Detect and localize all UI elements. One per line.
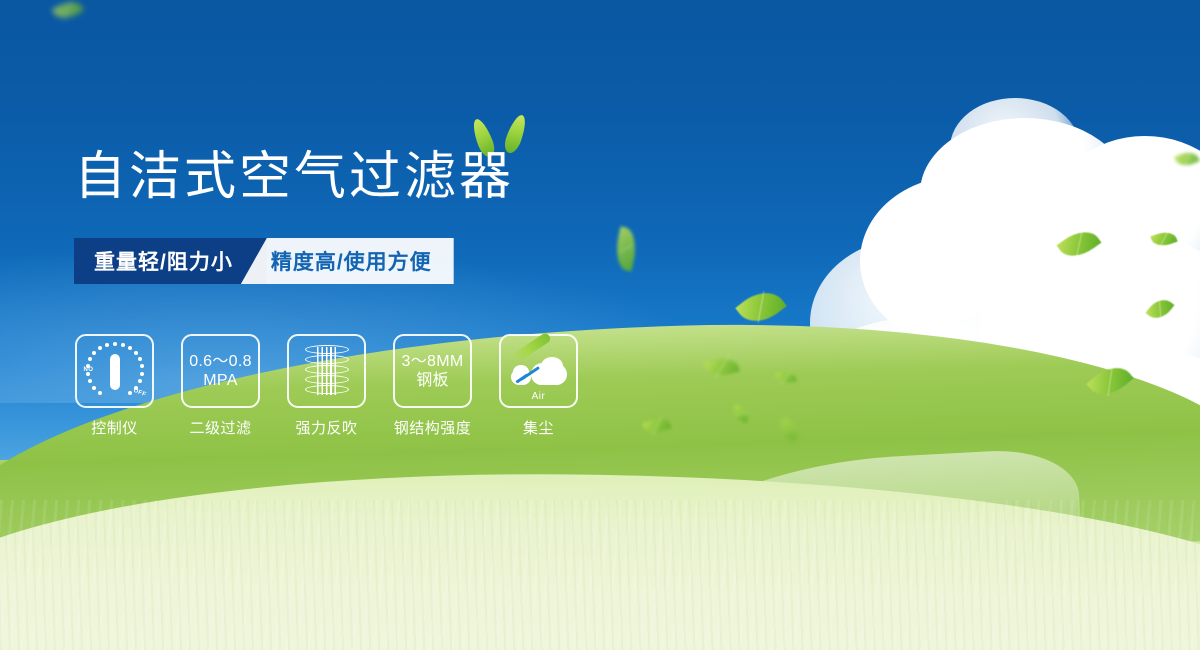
- feature-item-dust-collection[interactable]: Air 集尘: [498, 334, 579, 438]
- steel-thickness-line1: 3～8MM: [402, 352, 464, 371]
- cloud-air-icon: Air: [511, 349, 567, 393]
- tagline-secondary: 精度高/使用方便: [241, 238, 454, 284]
- dial-label-no: NO: [84, 367, 94, 373]
- leaf-vein: [781, 371, 792, 383]
- coil-bars: [317, 347, 337, 395]
- dial-needle: [110, 354, 120, 390]
- cloud-puff: [920, 118, 1130, 268]
- feature-box: 3～8MM 钢板: [393, 334, 472, 408]
- floating-leaf: [52, 0, 84, 24]
- control-dial-icon: NO OFF: [85, 342, 145, 400]
- leaf-vein: [1075, 230, 1082, 258]
- feature-box: [287, 334, 366, 408]
- dial-label-off: OFF: [133, 388, 147, 399]
- feature-label: 二级过滤: [189, 417, 251, 438]
- floating-leaf: [612, 226, 640, 271]
- feature-item-control-dial[interactable]: NO OFF 控制仪: [74, 334, 155, 438]
- leaf-vein: [619, 245, 633, 253]
- leaf-vein: [758, 291, 765, 323]
- grass-field: [0, 460, 1200, 650]
- tagline-bar: 重量轻/阻力小 精度高/使用方便: [74, 238, 454, 284]
- leaf-vein: [1159, 300, 1161, 318]
- feature-label: 钢结构强度: [394, 417, 472, 438]
- feature-box: NO OFF: [75, 334, 154, 408]
- feature-item-blowback[interactable]: 强力反吹: [286, 334, 367, 438]
- leaf-vein: [734, 412, 748, 416]
- pressure-value-line1: 0.6～0.8: [189, 352, 252, 371]
- tagline-primary: 重量轻/阻力小: [74, 238, 267, 284]
- pressure-value-line2: MPA: [203, 371, 237, 390]
- coil-blowback-icon: [305, 345, 349, 397]
- steel-thickness-line2: 钢板: [416, 371, 449, 390]
- leaf-vein: [1183, 151, 1191, 167]
- feature-box: 0.6～0.8 MPA: [181, 334, 260, 408]
- cloud-puff: [860, 176, 1060, 346]
- feature-label: 控制仪: [91, 417, 138, 438]
- cloud-puff: [950, 98, 1080, 198]
- feature-label: 集尘: [523, 417, 554, 438]
- leaf-vein: [64, 0, 72, 20]
- leaf-vein: [1159, 231, 1168, 248]
- leaf-vein: [715, 356, 729, 377]
- feature-item-steel-plate[interactable]: 3～8MM 钢板 钢结构强度: [392, 334, 473, 438]
- floating-leaf: [1146, 294, 1175, 324]
- floating-leaf: [1174, 148, 1200, 170]
- feature-box: Air: [499, 334, 578, 408]
- feature-label: 强力反吹: [295, 417, 357, 438]
- promo-banner: 自洁式空气过滤器 重量轻/阻力小 精度高/使用方便: [0, 0, 1200, 650]
- air-label: Air: [532, 391, 546, 402]
- leaf-vein: [781, 428, 798, 431]
- floating-leaf: [1057, 223, 1102, 265]
- feature-item-pressure[interactable]: 0.6～0.8 MPA 二级过滤: [180, 334, 261, 438]
- floating-leaf: [1150, 228, 1177, 249]
- page-title: 自洁式空气过滤器: [74, 146, 514, 208]
- feature-list: NO OFF 控制仪 0.6～0.8 MPA 二级过滤: [74, 334, 579, 438]
- grass-texture: [0, 500, 1200, 650]
- leaf-vein: [1107, 366, 1112, 396]
